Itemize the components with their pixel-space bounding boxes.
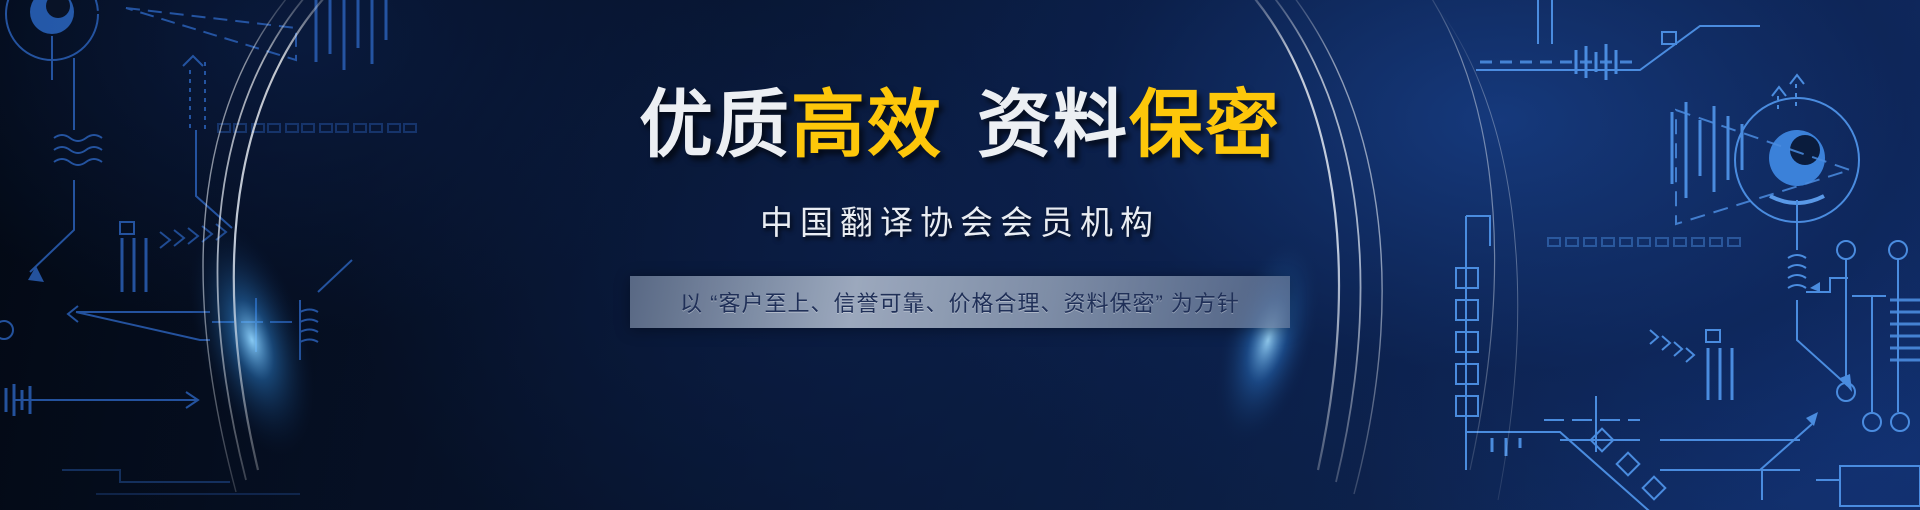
- title-segment-4: 保密: [1129, 83, 1281, 166]
- page-title: 优质高效资料保密: [639, 88, 1281, 162]
- title-segment-1: 优质: [639, 83, 791, 166]
- page-subtitle: 中国翻译协会会员机构: [760, 196, 1160, 244]
- banner-content: 优质高效资料保密 中国翻译协会会员机构 以 “客户至上、信誉可靠、价格合理、资料…: [0, 0, 1920, 510]
- slogan-text: 以 “客户至上、信誉可靠、价格合理、资料保密” 为方针: [680, 286, 1240, 318]
- hero-banner: 优质高效资料保密 中国翻译协会会员机构 以 “客户至上、信誉可靠、价格合理、资料…: [0, 0, 1920, 510]
- slogan-bar: 以 “客户至上、信誉可靠、价格合理、资料保密” 为方针: [630, 276, 1290, 328]
- title-segment-2: 高效: [791, 83, 943, 166]
- title-segment-3: 资料: [977, 83, 1129, 166]
